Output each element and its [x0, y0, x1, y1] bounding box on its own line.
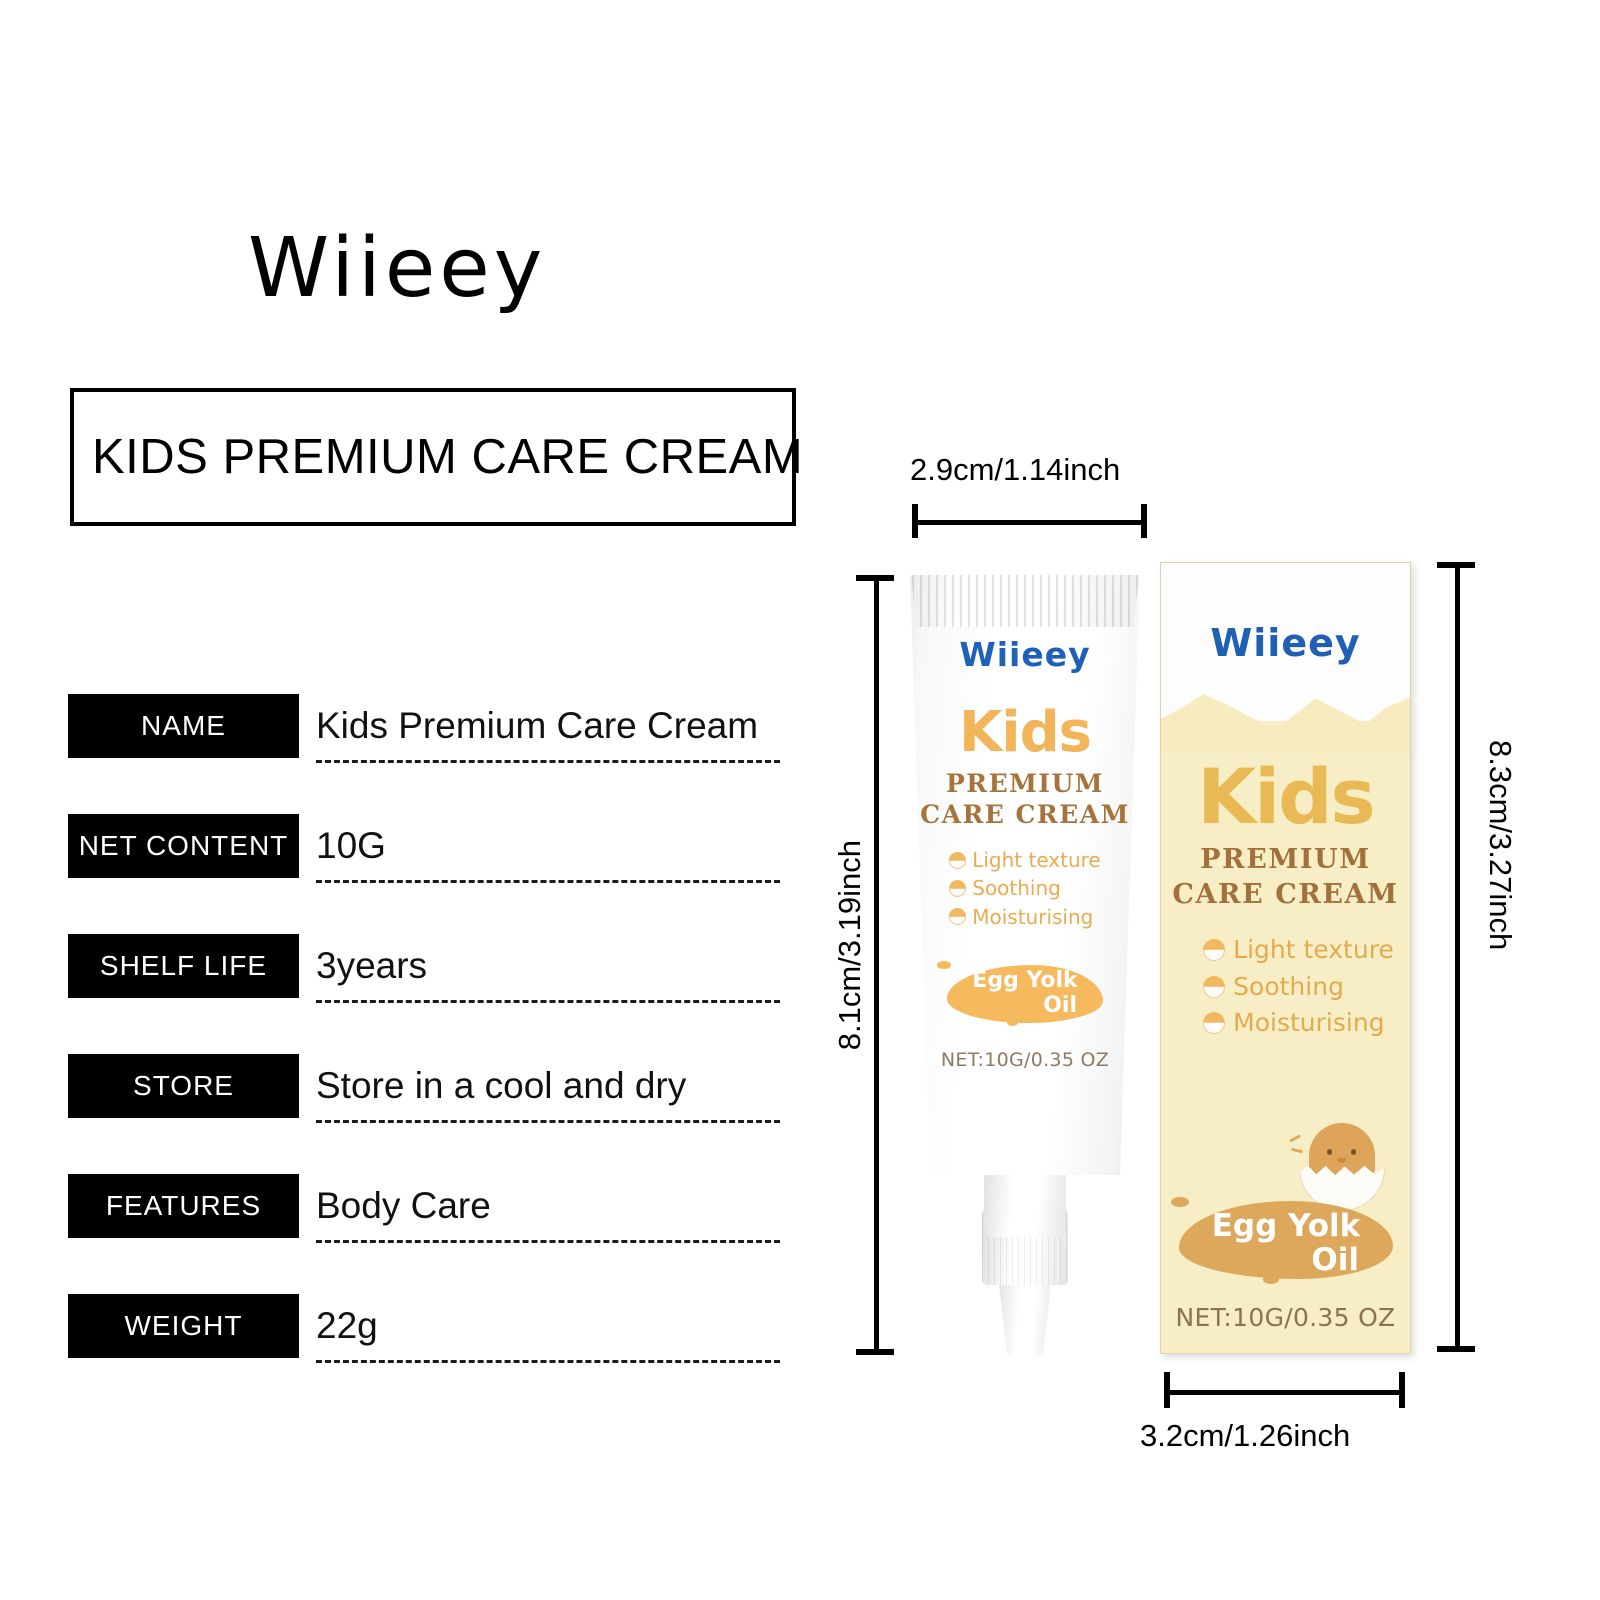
box-feature-item: Soothing — [1203, 969, 1394, 1005]
product-image-area: 2.9cm/1.14inch 8.1cm/3.19inch Wiieey Kid… — [810, 440, 1580, 1460]
spark-line — [1291, 1148, 1303, 1154]
dim-label-box-width: 3.2cm/1.26inch — [1140, 1418, 1350, 1454]
dim-cap — [912, 504, 918, 538]
tube-net-weight: NET:10G/0.35 OZ — [900, 1049, 1150, 1071]
box-feature-label: Soothing — [1233, 969, 1344, 1005]
tube-tip — [995, 1281, 1055, 1355]
spec-key-shelf-life: SHELF LIFE — [68, 934, 299, 998]
eggshell-bullet-icon — [1203, 939, 1225, 961]
spec-table: NAME Kids Premium Care Cream NET CONTENT… — [68, 694, 780, 1414]
tube-feature-label: Soothing — [972, 874, 1061, 902]
tube-badge-line1: Egg Yolk — [972, 968, 1077, 993]
table-row: NAME Kids Premium Care Cream — [68, 694, 780, 814]
tube-subtitle: PREMIUM CARE CREAM — [900, 769, 1150, 830]
table-row: SHELF LIFE 3years — [68, 934, 780, 1054]
spec-key-name: NAME — [68, 694, 299, 758]
eggshell-bullet-icon — [1203, 1012, 1225, 1034]
box-feature-item: Moisturising — [1203, 1005, 1394, 1041]
dim-cap — [1399, 1372, 1405, 1408]
yolk-droplet-icon — [937, 961, 951, 969]
tube-feature-item: Moisturising — [949, 903, 1101, 931]
box-badge-text: Egg Yolk Oil — [1179, 1209, 1393, 1277]
box-subtitle-line1: PREMIUM — [1161, 843, 1410, 878]
dim-cap — [1437, 1346, 1475, 1352]
box-product-name: Kids — [1161, 761, 1410, 833]
box-brand: Wiieey — [1161, 621, 1410, 665]
spec-divider — [316, 1120, 780, 1123]
tube-feature-item: Soothing — [949, 874, 1101, 902]
eggshell-bullet-icon — [949, 852, 966, 869]
dim-line-box-height — [1455, 562, 1460, 1352]
box-subtitle: PREMIUM CARE CREAM — [1161, 843, 1410, 912]
spec-value-shelf-life: 3years — [316, 934, 780, 998]
tube-feature-list: Light texture Soothing Moisturising — [949, 846, 1101, 931]
spec-value-weight: 22g — [316, 1294, 780, 1358]
spec-key-weight: WEIGHT — [68, 1294, 299, 1358]
brand-logo: Wiieey — [248, 228, 546, 310]
dim-cap — [856, 575, 894, 581]
dim-line-tube-height — [874, 575, 879, 1355]
tube-product-name: Kids — [900, 700, 1150, 765]
dim-label-box-height: 8.3cm/3.27inch — [1482, 740, 1518, 950]
tube-neck — [984, 1171, 1066, 1237]
spec-key-net-content: NET CONTENT — [68, 814, 299, 878]
dim-cap — [1437, 562, 1475, 568]
dim-cap — [1141, 504, 1147, 538]
box-subtitle-line2: CARE CREAM — [1161, 878, 1410, 913]
box-feature-label: Light texture — [1233, 932, 1394, 968]
spec-value-store: Store in a cool and dry — [316, 1054, 780, 1118]
eggshell-bullet-icon — [1203, 976, 1225, 998]
dim-label-tube-width: 2.9cm/1.14inch — [910, 452, 1120, 488]
product-box: Wiieey Kids PREMIUM CARE CREAM Light tex… — [1160, 562, 1411, 1354]
product-tube: Wiieey Kids PREMIUM CARE CREAM Light tex… — [900, 575, 1150, 1355]
eggshell-bullet-icon — [949, 908, 966, 925]
table-row: NET CONTENT 10G — [68, 814, 780, 934]
box-feature-list: Light texture Soothing Moisturising — [1203, 932, 1394, 1041]
tube-egg-yolk-badge: Egg Yolk Oil — [947, 961, 1103, 1027]
chick-eye — [1327, 1149, 1332, 1155]
dim-cap — [1164, 1372, 1170, 1408]
infographic-canvas: Wiieey KIDS PREMIUM CARE CREAM NAME Kids… — [0, 0, 1600, 1600]
box-feature-item: Light texture — [1203, 932, 1394, 968]
box-feature-label: Moisturising — [1233, 1005, 1384, 1041]
tube-badge-line2: Oil — [947, 994, 1103, 1019]
dim-cap — [856, 1349, 894, 1355]
box-egg-yolk-badge: Egg Yolk Oil — [1179, 1193, 1393, 1285]
eggshell-bullet-icon — [949, 880, 966, 897]
tube-crimp-seal — [904, 575, 1146, 627]
box-badge-line1: Egg Yolk — [1212, 1208, 1361, 1244]
spec-divider — [316, 1360, 780, 1363]
spec-divider — [316, 880, 780, 883]
dim-line-box-width — [1164, 1390, 1405, 1395]
tube-feature-item: Light texture — [949, 846, 1101, 874]
table-row: FEATURES Body Care — [68, 1174, 780, 1294]
yolk-droplet-icon — [1007, 1019, 1018, 1026]
tube-badge-text: Egg Yolk Oil — [947, 969, 1103, 1018]
box-net-weight: NET:10G/0.35 OZ — [1161, 1303, 1410, 1332]
box-badge-line2: Oil — [1179, 1243, 1393, 1277]
tube-brand: Wiieey — [900, 635, 1150, 674]
spec-divider — [316, 1240, 780, 1243]
tube-feature-label: Light texture — [972, 846, 1101, 874]
headline-box: KIDS PREMIUM CARE CREAM — [70, 388, 796, 526]
yolk-droplet-icon — [1171, 1197, 1189, 1207]
tube-label: Wiieey Kids PREMIUM CARE CREAM Light tex… — [900, 635, 1150, 1071]
tube-subtitle-line1: PREMIUM — [900, 769, 1150, 800]
spec-divider — [316, 760, 780, 763]
spec-value-features: Body Care — [316, 1174, 780, 1238]
chick-eye — [1351, 1149, 1356, 1155]
spec-key-features: FEATURES — [68, 1174, 299, 1238]
spec-key-store: STORE — [68, 1054, 299, 1118]
spec-divider — [316, 1000, 780, 1003]
tube-feature-label: Moisturising — [972, 903, 1093, 931]
dim-line-tube-width — [912, 520, 1147, 525]
table-row: STORE Store in a cool and dry — [68, 1054, 780, 1174]
spec-value-net-content: 10G — [316, 814, 780, 878]
page-title: KIDS PREMIUM CARE CREAM — [74, 429, 803, 485]
spark-line — [1289, 1134, 1301, 1142]
dim-label-tube-height: 8.1cm/3.19inch — [832, 840, 868, 1050]
tube-subtitle-line2: CARE CREAM — [900, 800, 1150, 831]
table-row: WEIGHT 22g — [68, 1294, 780, 1414]
spec-value-name: Kids Premium Care Cream — [316, 694, 780, 758]
